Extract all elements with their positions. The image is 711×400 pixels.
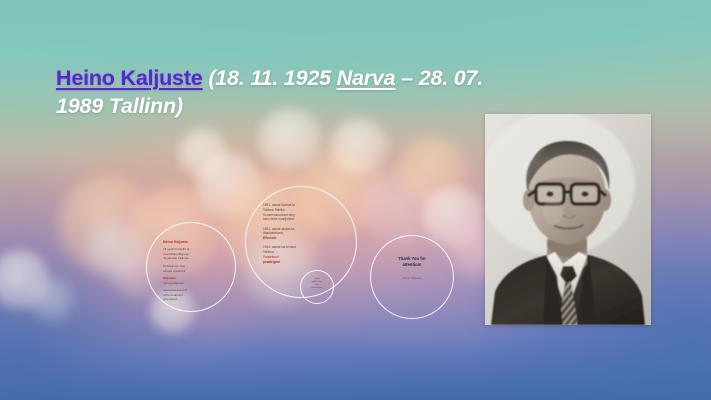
slide-title: Heino Kaljuste (18. 11. 1925 Narva – 28.… xyxy=(56,64,486,121)
frame-text-line: Ta juhatas Tallinna xyxy=(163,256,189,260)
birth-place-link[interactable]: Narva xyxy=(337,66,396,90)
title-dates-prefix: (18. 11. 1925 xyxy=(203,66,337,90)
frame-text-line: muusikasse. xyxy=(306,287,328,290)
frame-text-accent-bold: peadirigent xyxy=(263,260,296,265)
prezi-frame-thank-you[interactable]: Thank You for attention! Heino Kaljuste xyxy=(370,235,454,319)
frame-heading: Heino Kaljuste xyxy=(163,240,188,244)
frame-text-line: Tema juhatusel xyxy=(163,281,184,285)
prezi-slide-canvas: Heino Kaljuste oli eesti koorijuht ja mu… xyxy=(0,0,711,400)
person-name-link[interactable]: Heino Kaljuste xyxy=(56,66,203,90)
thank-you-heading-line2: attention! xyxy=(385,262,439,268)
thank-you-subtext: Heino Kaljuste xyxy=(385,276,439,280)
portrait-photo xyxy=(485,114,651,325)
prezi-frame-legacy[interactable]: Tema elutöö jääb eesti muusikasse. xyxy=(300,270,334,304)
portrait-photo-image xyxy=(485,114,651,325)
frame-text-accent: Ellerhein xyxy=(263,236,294,241)
frame-text-line: asutas ansambli xyxy=(163,269,185,273)
prezi-frame-biography[interactable]: Heino Kaljuste oli eesti koorijuht ja mu… xyxy=(146,222,236,312)
frame-text-line: tunnustust. xyxy=(163,297,187,301)
frame-text-line: asus tööle koorijuhina. xyxy=(263,217,295,222)
